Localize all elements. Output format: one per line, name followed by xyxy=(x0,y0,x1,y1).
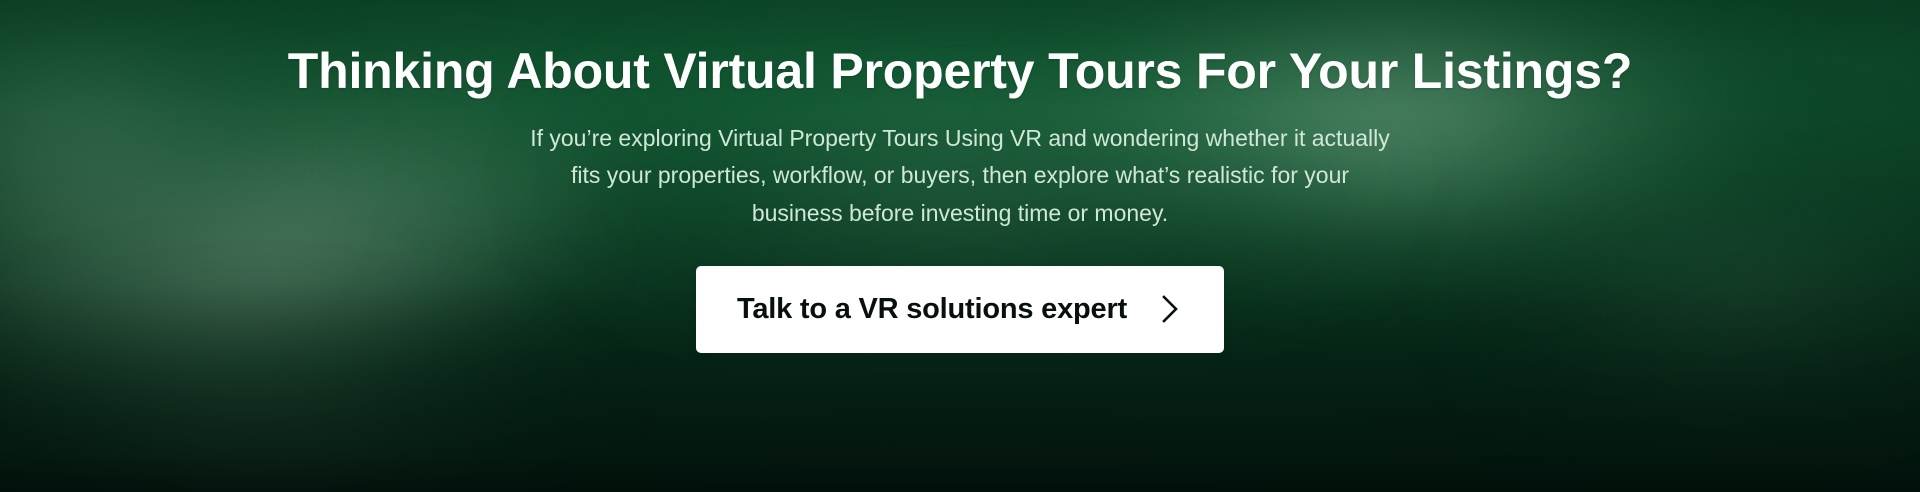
subcopy-line-2: fits your properties, workflow, or buyer… xyxy=(530,157,1390,194)
banner-headline: Thinking About Virtual Property Tours Fo… xyxy=(288,44,1632,98)
subcopy-line-1: If you’re exploring Virtual Property Tou… xyxy=(530,120,1390,157)
chevron-right-icon xyxy=(1157,293,1183,325)
subcopy-line-3: business before investing time or money. xyxy=(530,195,1390,232)
banner-content: Thinking About Virtual Property Tours Fo… xyxy=(0,0,1920,492)
cta-button-container: Talk to a VR solutions expert xyxy=(0,266,1920,353)
cta-banner: Thinking About Virtual Property Tours Fo… xyxy=(0,0,1920,492)
banner-subcopy: If you’re exploring Virtual Property Tou… xyxy=(530,120,1390,232)
cta-button-label: Talk to a VR solutions expert xyxy=(737,293,1127,326)
talk-to-vr-expert-button[interactable]: Talk to a VR solutions expert xyxy=(696,266,1224,353)
